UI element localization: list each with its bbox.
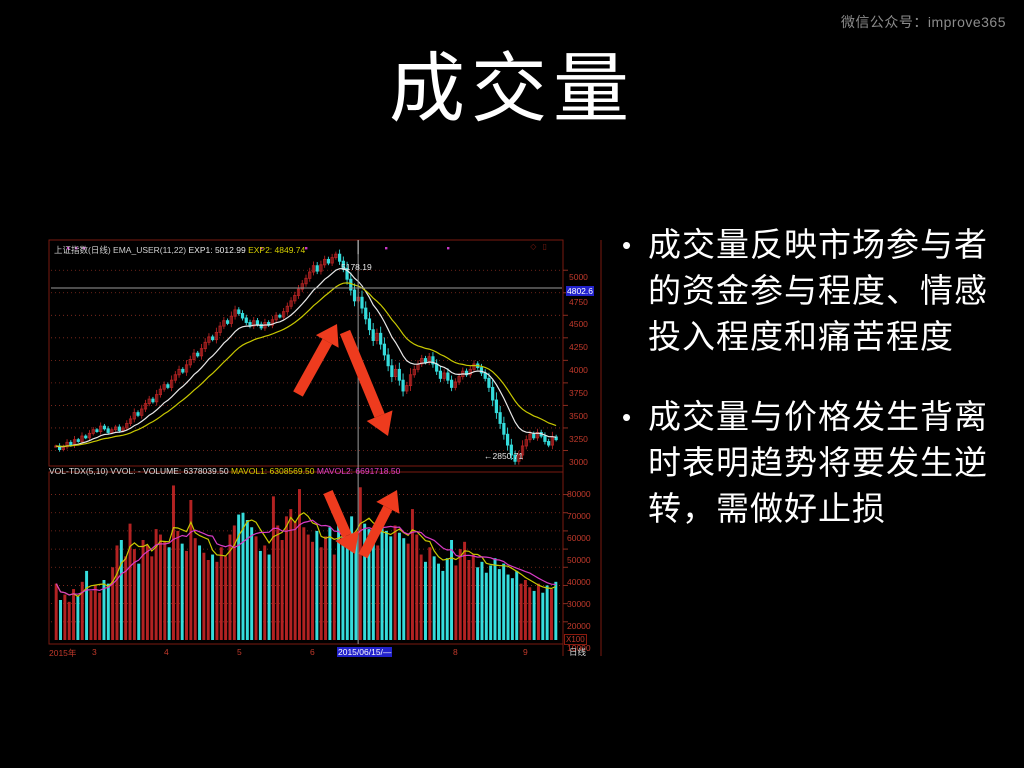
window-controls-icon[interactable]: ◇ ▯ [530,242,549,251]
price-axis-tick: 4250 [569,342,588,352]
list-item: • 成交量反映市场参与者的资金参与程度、情感投入程度和痛苦程度 [622,222,1014,360]
price-axis-tick: 4750 [569,297,588,307]
bullet-marker-icon: • [622,222,648,268]
list-item: • 成交量与价格发生背离时表明趋势将要发生逆转，需做好止损 [622,394,1014,532]
volume-axis-tick: 60000 [567,533,591,543]
price-axis-tick: 3250 [569,434,588,444]
price-axis-tick: 3000 [569,457,588,467]
x-axis-tick: 3 [92,647,97,657]
instrument-label: 上证指数(日线) [54,245,111,255]
volume-bar-series [55,485,558,640]
price-axis-tick: 4000 [569,365,588,375]
annotation-arrow [328,492,359,554]
period-label: 日线 [569,646,586,658]
page-title: 成交量 [0,52,1024,128]
bullet-text: 成交量与价格发生背离时表明趋势将要发生逆转，需做好止损 [648,394,1014,532]
exp2-value: EXP2: 4849.74 [248,245,305,255]
price-axis-tick: 5000 [569,272,588,282]
x-axis-tick: 4 [164,647,169,657]
x-axis-tick: 6 [310,647,315,657]
volume-axis-tick: 30000 [567,599,591,609]
volume-panel-header: VOL-TDX(5,10) VVOL: - VOLUME: 6378039.50… [49,466,400,476]
price-axis-tick: 3750 [569,388,588,398]
volume-axis-tick: 80000 [567,489,591,499]
annotation-arrow [298,324,339,394]
stock-chart[interactable]: 上证指数(日线) EMA_USER(11,22) EXP1: 5012.99 E… [45,236,607,660]
current-price-badge: 4802.6 [566,286,594,296]
x-axis-tick: 8 [453,647,458,657]
volume-value: VOLUME: 6378039.50 [143,466,229,476]
volume-axis-tick: 50000 [567,555,591,565]
indicator-label: EMA_USER(11,22) [113,245,186,255]
exp1-value: EXP1: 5012.99 [189,245,246,255]
price-axis-tick: 4500 [569,319,588,329]
volume-axis-tick: 40000 [567,577,591,587]
bullet-marker-icon: • [622,394,648,440]
volume-indicator-label: VOL-TDX(5,10) [49,466,108,476]
low-price-label: ←2850.71 [484,451,523,461]
x-axis-tick: 9 [523,647,528,657]
price-panel-header: 上证指数(日线) EMA_USER(11,22) EXP1: 5012.99 E… [54,244,305,256]
price-axis-tick: 3500 [569,411,588,421]
slide-root: 微信公众号：improve365 成交量 • 成交量反映市场参与者的资金参与程度… [0,0,1024,768]
peak-price-label: 5178.19 [341,262,372,272]
x-axis-tick: 5 [237,647,242,657]
x-axis-tick: 2015年 [49,647,76,659]
bullet-list: • 成交量反映市场参与者的资金参与程度、情感投入程度和痛苦程度 • 成交量与价格… [622,222,1014,566]
bullet-text: 成交量反映市场参与者的资金参与程度、情感投入程度和痛苦程度 [648,222,1014,360]
mavol2-value: MAVOL2: 6691718.50 [317,466,401,476]
vvol-label: VVOL: - [110,466,140,476]
cursor-date-badge: 2015/06/15/— [337,647,392,657]
watermark: 微信公众号：improve365 [841,12,1006,32]
volume-axis-tick: 20000 [567,621,591,631]
volume-multiplier-label: X100 [564,634,587,645]
volume-axis-tick: 70000 [567,511,591,521]
mavol1-value: MAVOL1: 6308569.50 [231,466,315,476]
chart-canvas [45,236,607,660]
